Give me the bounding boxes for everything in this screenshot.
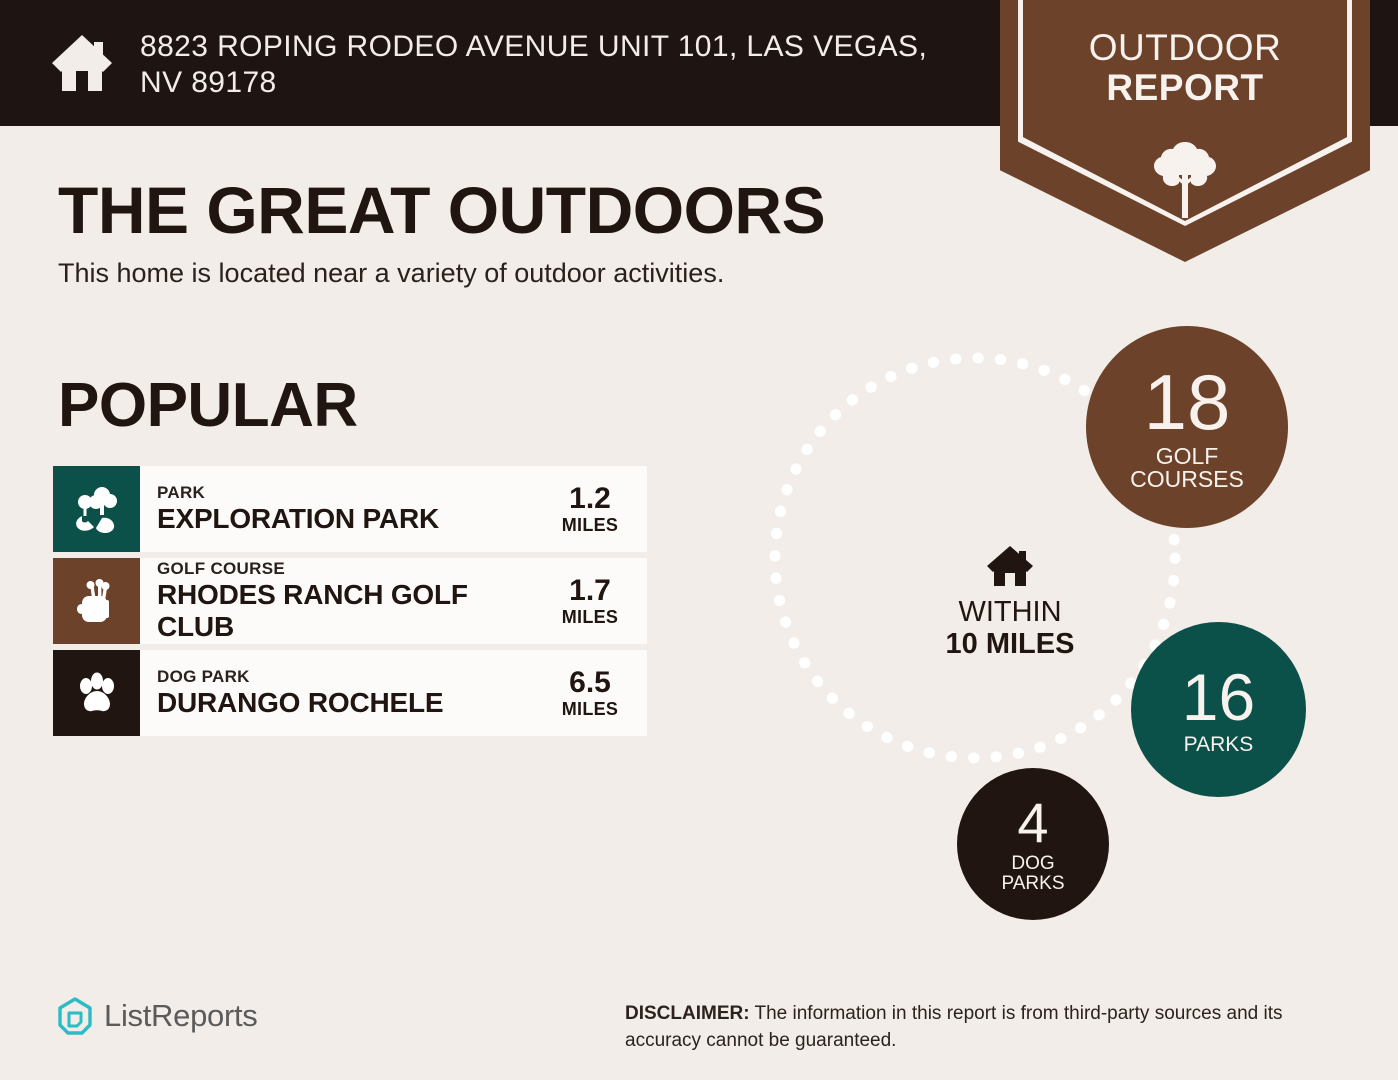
stat-circle-golf-courses: 18 GOLF COURSES bbox=[1086, 326, 1288, 528]
home-icon bbox=[50, 33, 114, 93]
stat-circle-dog-parks: 4 DOG PARKS bbox=[957, 768, 1109, 920]
list-item-distance-unit: MILES bbox=[551, 515, 629, 535]
park-trees-icon bbox=[72, 484, 122, 534]
list-item-distance-unit: MILES bbox=[551, 607, 629, 627]
list-item-distance: 6.5 MILES bbox=[551, 667, 647, 719]
list-item-distance-value: 1.7 bbox=[551, 575, 629, 607]
stat-label-line2: PARKS bbox=[1001, 874, 1064, 893]
list-item[interactable]: PARK EXPLORATION PARK 1.2 MILES bbox=[53, 466, 647, 552]
list-item-category: DOG PARK bbox=[157, 667, 551, 687]
section-title-popular: POPULAR bbox=[58, 370, 358, 441]
list-item[interactable]: DOG PARK DURANGO ROCHELE 6.5 MILES bbox=[53, 650, 647, 736]
list-item-name: EXPLORATION PARK bbox=[157, 503, 551, 535]
stat-label-line1: GOLF bbox=[1130, 445, 1244, 468]
list-item-category: GOLF COURSE bbox=[157, 559, 551, 579]
stat-value: 18 bbox=[1144, 363, 1231, 441]
badge-title-line2: REPORT bbox=[1000, 68, 1370, 108]
list-item-body: GOLF COURSE RHODES RANCH GOLF CLUB bbox=[140, 559, 551, 643]
list-item-category: PARK bbox=[157, 483, 551, 503]
hub-within-radius: WITHIN 10 MILES bbox=[930, 545, 1090, 660]
listreports-house-icon bbox=[56, 996, 94, 1036]
tree-icon bbox=[1152, 140, 1218, 218]
list-item-distance-value: 6.5 bbox=[551, 667, 629, 699]
list-item-distance: 1.2 MILES bbox=[551, 483, 647, 535]
hub-line2: 10 MILES bbox=[930, 628, 1090, 660]
header-address: 8823 ROPING RODEO AVENUE UNIT 101, LAS V… bbox=[140, 29, 950, 101]
list-item[interactable]: GOLF COURSE RHODES RANCH GOLF CLUB 1.7 M… bbox=[53, 558, 647, 644]
list-item-icon-tile bbox=[53, 650, 140, 736]
list-item-body: DOG PARK DURANGO ROCHELE bbox=[140, 667, 551, 719]
list-item-distance-value: 1.2 bbox=[551, 483, 629, 515]
list-item-distance: 1.7 MILES bbox=[551, 575, 647, 627]
stat-label: PARKS bbox=[1184, 734, 1254, 755]
list-item-icon-tile bbox=[53, 558, 140, 644]
paw-print-icon bbox=[73, 669, 121, 717]
list-item-name: DURANGO ROCHELE bbox=[157, 687, 551, 719]
stat-label-line1: DOG bbox=[1001, 854, 1064, 873]
stat-label-line1: PARKS bbox=[1184, 734, 1254, 755]
stat-value: 16 bbox=[1182, 664, 1255, 730]
stat-label: DOG PARKS bbox=[1001, 854, 1064, 893]
badge-title-line1: OUTDOOR bbox=[1000, 28, 1370, 68]
golf-bag-icon bbox=[72, 576, 122, 626]
listreports-logo-text: ListReports bbox=[104, 998, 258, 1034]
list-item-icon-tile bbox=[53, 466, 140, 552]
page-title: THE GREAT OUTDOORS bbox=[58, 172, 825, 248]
list-item-name: RHODES RANCH GOLF CLUB bbox=[157, 579, 551, 643]
stat-circle-parks: 16 PARKS bbox=[1131, 622, 1306, 797]
disclaimer-label: DISCLAIMER: bbox=[625, 1003, 750, 1024]
badge-title: OUTDOOR REPORT bbox=[1000, 28, 1370, 108]
listreports-logo[interactable]: ListReports bbox=[56, 996, 258, 1036]
stat-label-line2: COURSES bbox=[1130, 468, 1244, 491]
list-item-distance-unit: MILES bbox=[551, 699, 629, 719]
outdoor-report-badge: OUTDOOR REPORT bbox=[1000, 0, 1370, 262]
home-icon bbox=[986, 545, 1034, 587]
stat-label: GOLF COURSES bbox=[1130, 445, 1244, 492]
stat-value: 4 bbox=[1017, 795, 1048, 851]
hub-line1: WITHIN bbox=[930, 597, 1090, 628]
list-item-body: PARK EXPLORATION PARK bbox=[140, 483, 551, 535]
popular-list: PARK EXPLORATION PARK 1.2 MILES bbox=[53, 466, 647, 742]
page-subtitle: This home is located near a variety of o… bbox=[58, 258, 724, 289]
disclaimer: DISCLAIMER: The information in this repo… bbox=[625, 1000, 1345, 1054]
outdoor-report-page: 8823 ROPING RODEO AVENUE UNIT 101, LAS V… bbox=[0, 0, 1398, 1080]
